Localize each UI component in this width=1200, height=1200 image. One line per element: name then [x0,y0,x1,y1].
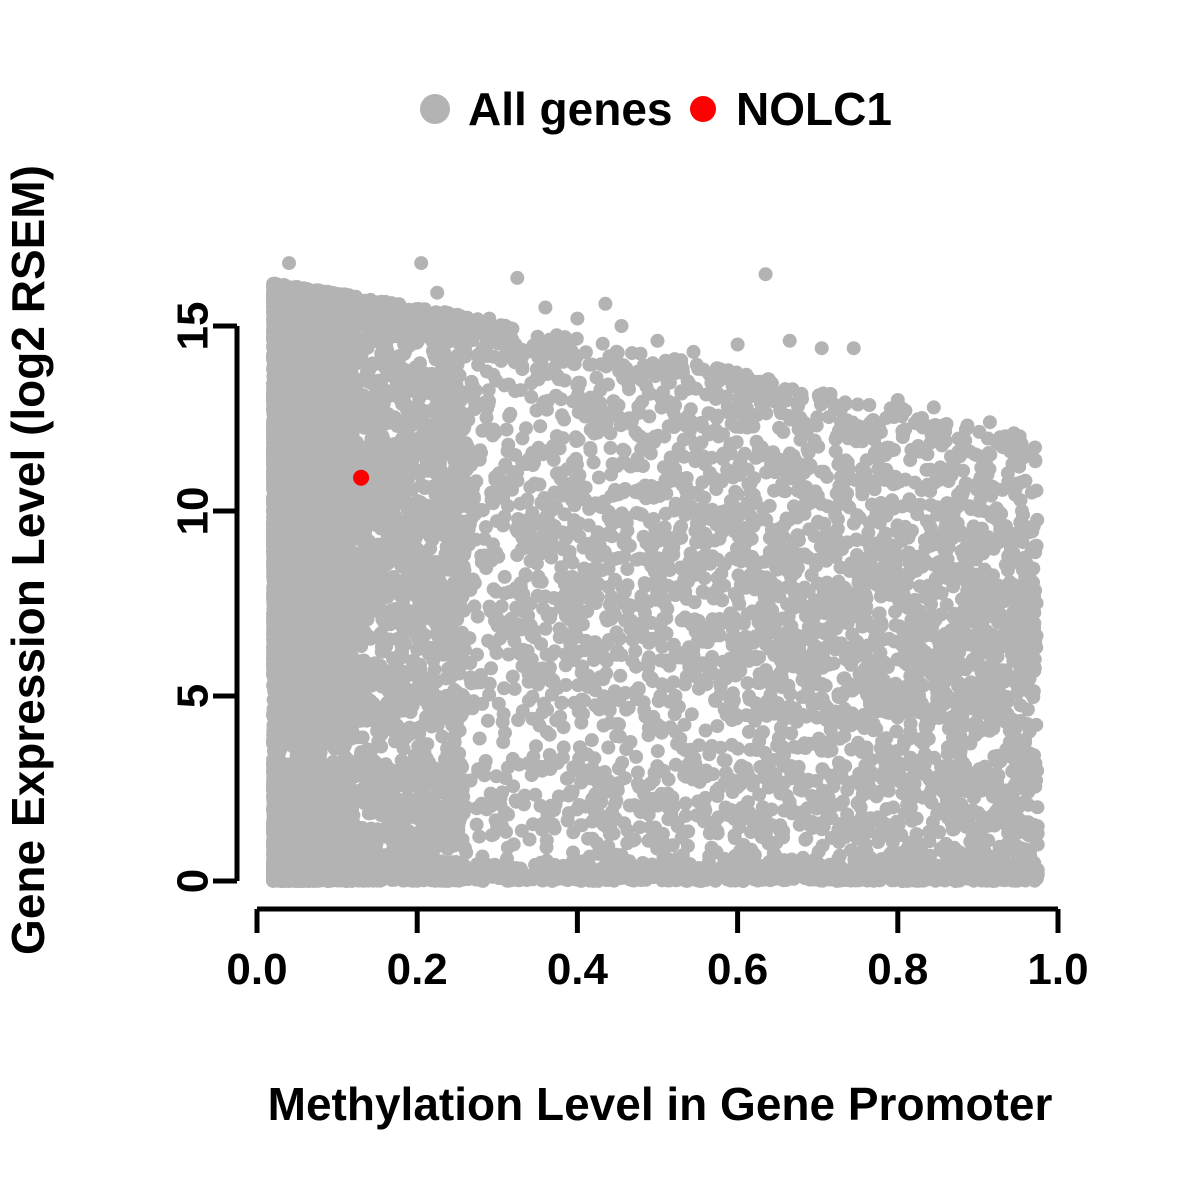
data-point [596,337,610,351]
data-point [774,741,788,755]
data-point [765,803,779,817]
data-point [604,441,618,455]
data-point [479,561,493,575]
data-point [506,779,520,793]
data-point [772,421,786,435]
plot-canvas: 0510150.00.20.40.60.81.0 Methylation Lev… [0,0,1200,1200]
data-point [920,463,934,477]
data-point [587,455,601,469]
data-point [569,430,583,444]
data-point [497,681,511,695]
data-point [592,471,606,485]
data-point [608,573,622,587]
data-point [740,421,754,435]
scatter-plot-figure: 0510150.00.20.40.60.81.0 Methylation Lev… [0,0,1200,1200]
data-point [601,741,615,755]
data-point [710,789,724,803]
data-point [473,732,487,746]
